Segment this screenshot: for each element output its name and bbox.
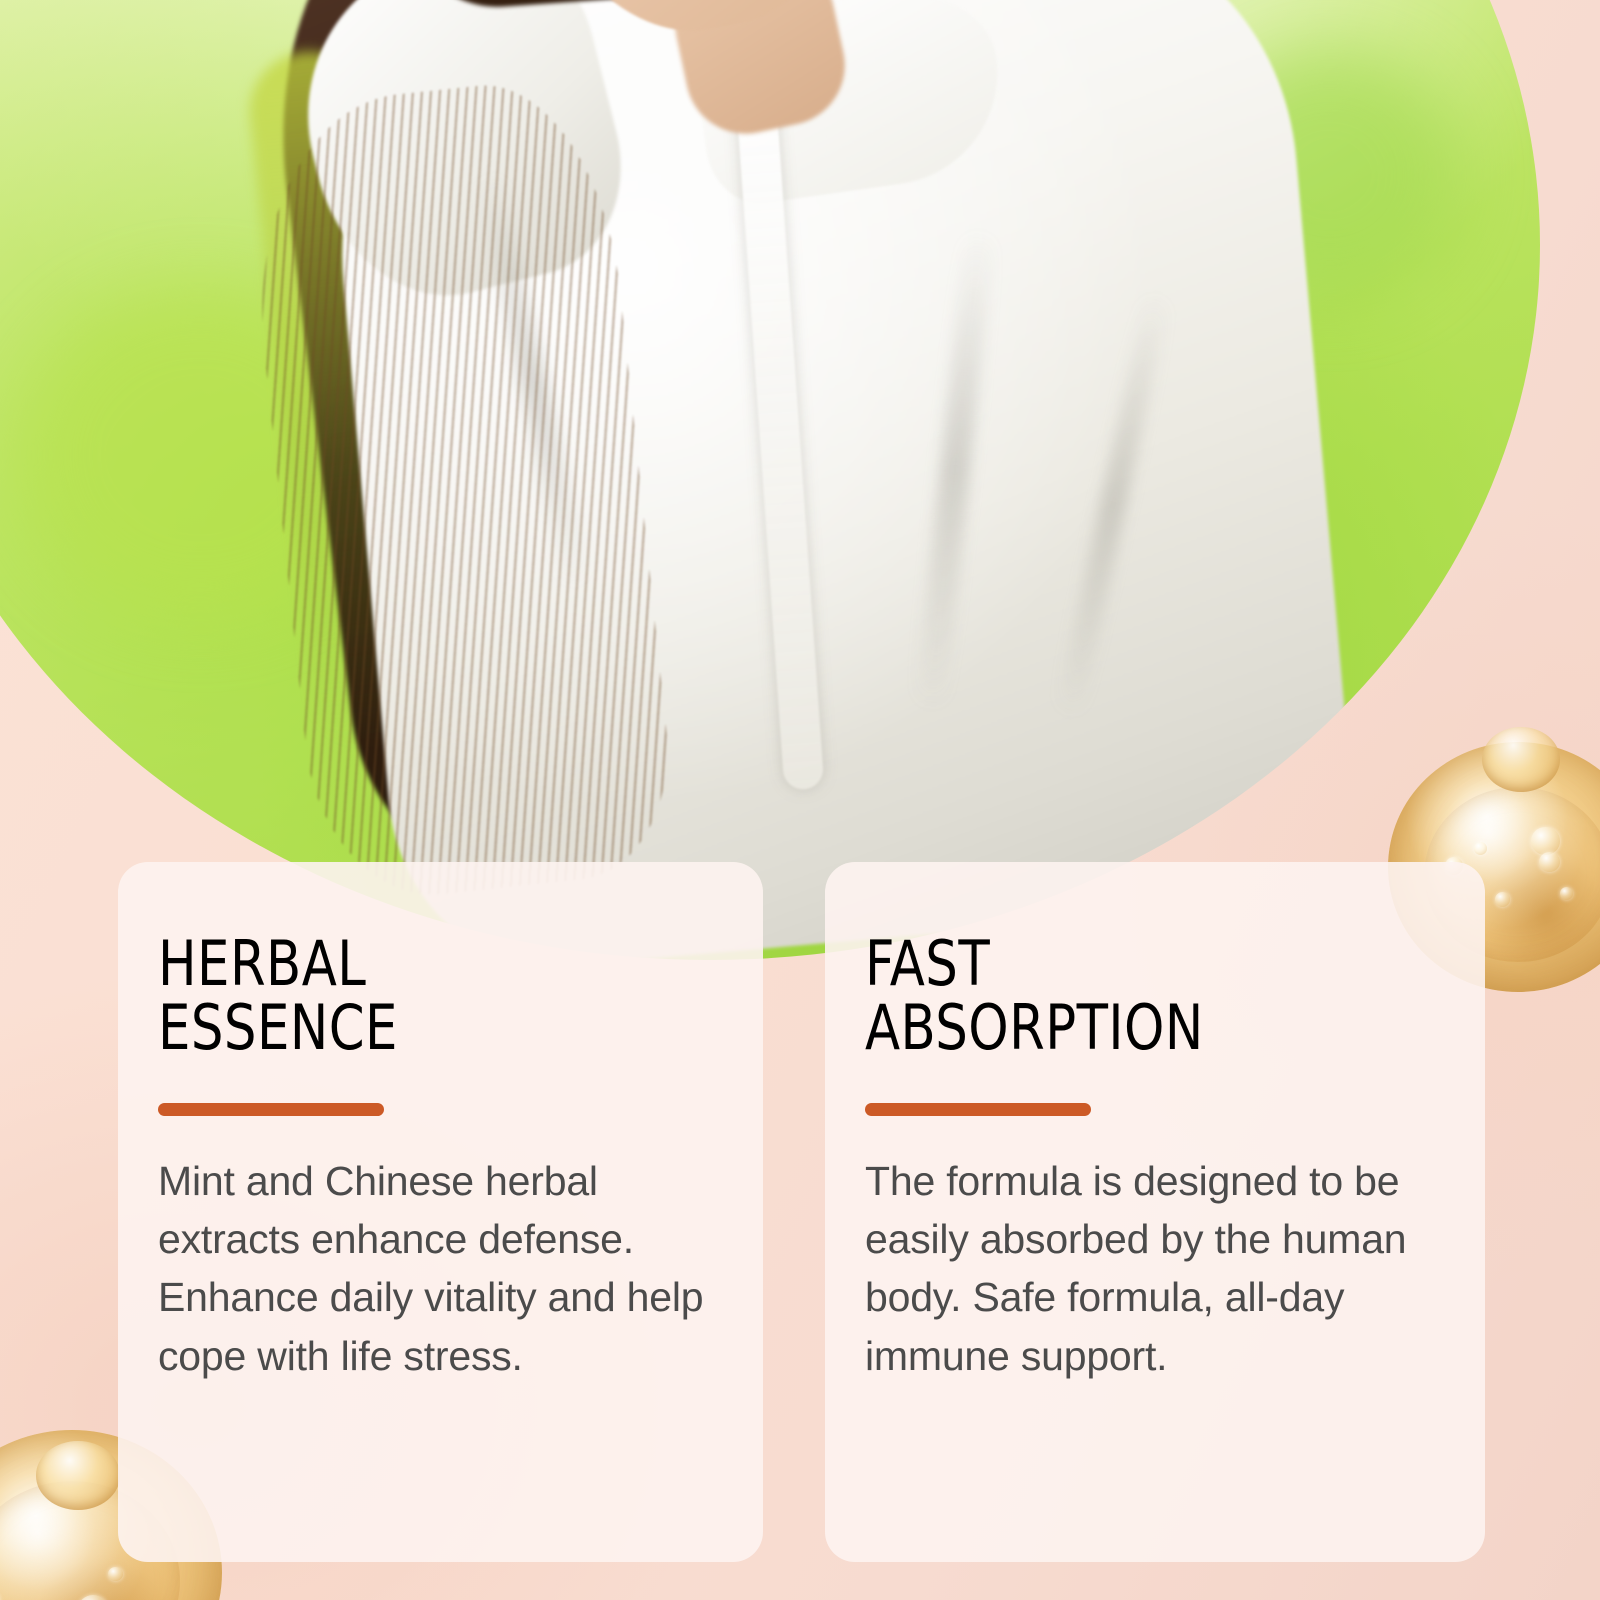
feature-card-title: FAST ABSORPTION xyxy=(865,932,1388,1061)
feature-card-title: HERBAL ESSENCE xyxy=(158,932,667,1061)
product-feature-banner: HERBAL ESSENCE Mint and Chinese herbal e… xyxy=(0,0,1600,1600)
feature-card-body: Mint and Chinese herbal extracts enhance… xyxy=(158,1152,711,1385)
feature-card-body: The formula is designed to be easily abs… xyxy=(865,1152,1433,1385)
feature-card-herbal-essence[interactable]: HERBAL ESSENCE Mint and Chinese herbal e… xyxy=(118,862,763,1562)
feature-card-accent-rule xyxy=(865,1103,1091,1116)
feature-cards: HERBAL ESSENCE Mint and Chinese herbal e… xyxy=(0,0,1600,1600)
feature-card-accent-rule xyxy=(158,1103,384,1116)
feature-card-fast-absorption[interactable]: FAST ABSORPTION The formula is designed … xyxy=(825,862,1485,1562)
